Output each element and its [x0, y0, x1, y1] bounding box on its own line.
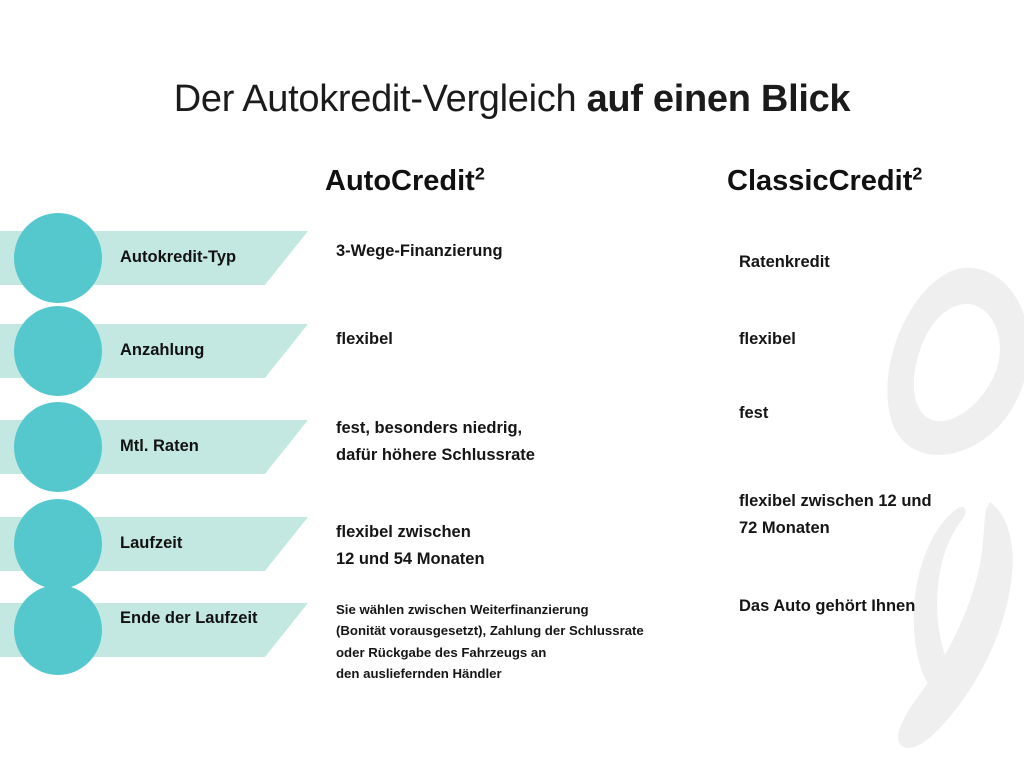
row-label-line: Laufzeit: [120, 534, 182, 552]
cell-auto-anzahlung: flexibel: [336, 326, 726, 353]
cell-classic-mtl-raten: fest: [739, 400, 1019, 427]
column-header-classiccredit-label: ClassicCredit: [727, 165, 912, 197]
cell-line: flexibel: [739, 326, 1019, 353]
column-header-classiccredit: ClassicCredit2: [727, 165, 922, 198]
row-bullet-circle: [14, 306, 102, 396]
column-header-autocredit-superscript: 2: [475, 163, 485, 183]
cell-line: fest, besonders niedrig,: [336, 415, 726, 442]
cell-line: oder Rückgabe des Fahrzeugs an: [336, 642, 756, 663]
row-bullet-circle: [14, 499, 102, 589]
cell-line: 3-Wege-Finanzierung: [336, 238, 726, 265]
row-label-line: Laufzeit: [195, 609, 257, 627]
page-title-light: Der Autokredit-Vergleich: [174, 78, 587, 120]
cell-line: Das Auto gehört Ihnen: [739, 593, 1019, 620]
cell-auto-laufzeit: flexibel zwischen 12 und 54 Monaten: [336, 519, 726, 572]
cell-line: flexibel zwischen: [336, 519, 726, 546]
row-bullet-circle: [14, 402, 102, 492]
row-label-mtl-raten: Mtl. Raten: [120, 436, 300, 457]
row-label-line: Autokredit-Typ: [120, 248, 236, 266]
page-title: Der Autokredit-Vergleich auf einen Blick: [0, 78, 1024, 121]
cell-line: Ratenkredit: [739, 249, 1019, 276]
row-bullet-circle: [14, 213, 102, 303]
cell-line: fest: [739, 400, 1019, 427]
cell-auto-autokredit-typ: 3-Wege-Finanzierung: [336, 238, 726, 265]
row-label-ende-der-laufzeit: Ende der Laufzeit: [120, 608, 300, 629]
cell-auto-ende-der-laufzeit: Sie wählen zwischen Weiterfinanzierung (…: [336, 599, 756, 685]
row-label-laufzeit: Laufzeit: [120, 533, 300, 554]
row-label-line: Mtl. Raten: [120, 437, 199, 455]
cell-line: Sie wählen zwischen Weiterfinanzierung: [336, 599, 756, 620]
cell-line: den ausliefernden Händler: [336, 663, 756, 684]
cell-line: flexibel zwischen 12 und: [739, 488, 1019, 515]
row-label-line: Ende der: [120, 609, 191, 627]
column-header-autocredit-label: AutoCredit: [325, 165, 475, 197]
cell-classic-autokredit-typ: Ratenkredit: [739, 249, 1019, 276]
column-header-classiccredit-superscript: 2: [912, 163, 922, 183]
cell-line: 12 und 54 Monaten: [336, 546, 726, 573]
column-header-autocredit: AutoCredit2: [325, 165, 485, 198]
row-label-autokredit-typ: Autokredit-Typ: [120, 247, 300, 268]
cell-classic-anzahlung: flexibel: [739, 326, 1019, 353]
row-label-line: Anzahlung: [120, 341, 204, 359]
cell-line: 72 Monaten: [739, 515, 1019, 542]
cell-auto-mtl-raten: fest, besonders niedrig, dafür höhere Sc…: [336, 415, 726, 468]
cell-classic-ende-der-laufzeit: Das Auto gehört Ihnen: [739, 593, 1019, 620]
cell-classic-laufzeit: flexibel zwischen 12 und 72 Monaten: [739, 488, 1019, 541]
cell-line: (Bonität vorausgesetzt), Zahlung der Sch…: [336, 620, 756, 641]
row-bullet-circle: [14, 585, 102, 675]
cell-line: flexibel: [336, 326, 726, 353]
page-title-bold: auf einen Blick: [587, 78, 851, 120]
cell-line: dafür höhere Schlussrate: [336, 442, 726, 469]
infographic-canvas: Der Autokredit-Vergleich auf einen Blick…: [0, 0, 1024, 768]
row-label-anzahlung: Anzahlung: [120, 340, 300, 361]
